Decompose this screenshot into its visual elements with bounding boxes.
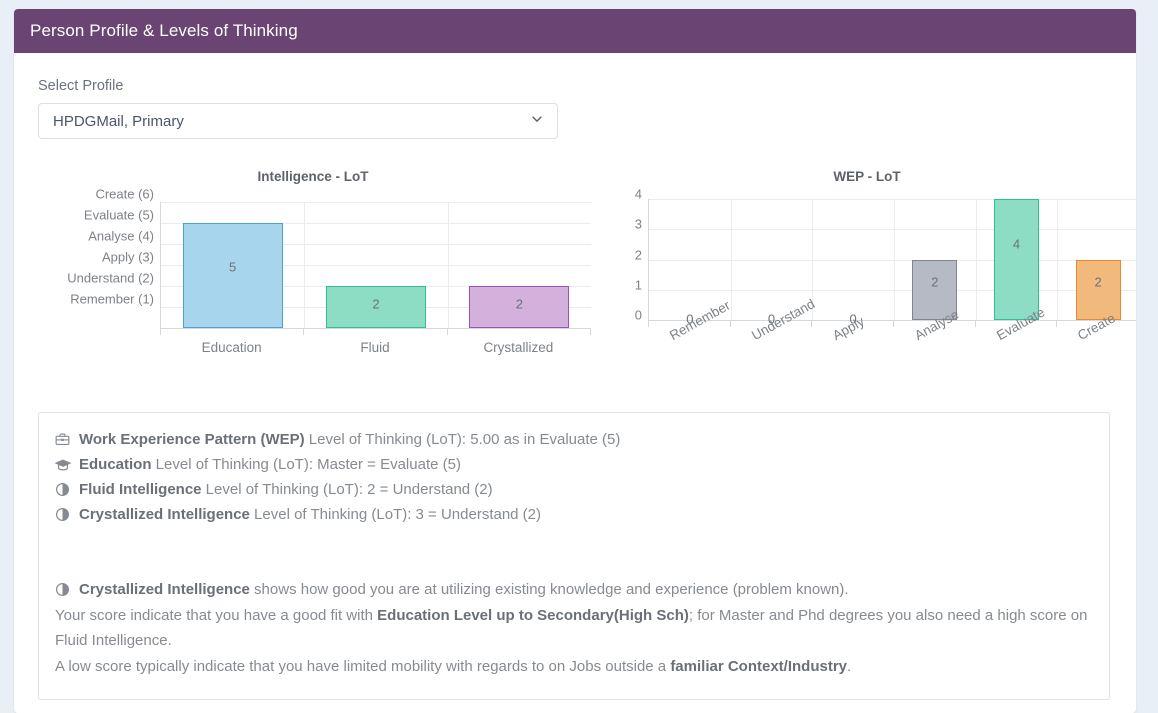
bar-value-label: 4: [1013, 237, 1020, 250]
bar[interactable]: [994, 199, 1039, 320]
summary-row-text: Work Experience Pattern (WEP) Level of T…: [79, 427, 620, 452]
y-tick-label: Create (6): [95, 188, 154, 201]
x-tick-mark: [811, 320, 812, 327]
x-tick-mark: [1056, 320, 1057, 327]
select-profile-label: Select Profile: [38, 78, 1112, 94]
summary-row-bold: Crystallized Intelligence: [79, 506, 250, 523]
y-tick-label: 3: [635, 218, 642, 231]
summary-row-bold: Work Experience Pattern (WEP): [79, 431, 305, 448]
summary-row-bold: Education: [79, 456, 152, 473]
gridline-horizontal: [649, 199, 1136, 200]
chart-wep-lot: WEP - LoT 01234000242RememberUnderstandA…: [603, 169, 1131, 359]
plot-box: 522: [160, 202, 591, 329]
y-tick-label: Remember (1): [70, 293, 154, 306]
y-tick-label: 1: [635, 278, 642, 291]
gridline-vertical: [304, 202, 305, 328]
description-line-3-b: .: [847, 658, 851, 675]
summary-row-text: Crystallized Intelligence Level of Think…: [79, 502, 541, 527]
description-line-1-text: Crystallized Intelligence shows how good…: [79, 577, 849, 603]
summary-row-rest: Level of Thinking (LoT): 2 = Understand …: [202, 481, 493, 498]
bar-value-label: 5: [229, 261, 236, 274]
y-tick-label: 2: [635, 248, 642, 261]
summary-row-rest: Level of Thinking (LoT): 3 = Understand …: [250, 506, 541, 523]
card-body: Select Profile HPDGMail, Primary Intelli…: [14, 53, 1136, 700]
summary-row-rest: Level of Thinking (LoT): Master = Evalua…: [152, 456, 461, 473]
summary-row: Education Level of Thinking (LoT): Maste…: [55, 452, 1093, 477]
description-line-2-a: Your score indicate that you have a good…: [55, 607, 377, 624]
y-tick-label: Analyse (4): [88, 230, 154, 243]
gridline-vertical: [1057, 199, 1058, 320]
profile-select-value: HPDGMail, Primary: [53, 113, 184, 130]
description-line-3-bold: familiar Context/Industry: [670, 658, 847, 675]
summary-row: Fluid Intelligence Level of Thinking (Lo…: [55, 477, 1093, 502]
x-tick-mark: [447, 328, 448, 335]
description-line-1-rest: shows how good you are at utilizing exis…: [250, 581, 849, 598]
plot-area-wep: 01234000242RememberUnderstandApplyAnalys…: [603, 194, 1131, 359]
summary-rows: Work Experience Pattern (WEP) Level of T…: [55, 427, 1093, 527]
graduation-cap-icon: [55, 452, 79, 477]
x-tick-mark: [303, 328, 304, 335]
description-line-1-bold: Crystallized Intelligence: [79, 581, 250, 598]
gridline-horizontal: [649, 229, 1136, 230]
gridline-vertical: [731, 199, 732, 320]
description-line-2-bold: Education Level up to Secondary(High Sch…: [377, 607, 689, 624]
bar-value-label: 2: [931, 275, 938, 288]
y-tick-label: Evaluate (5): [84, 209, 154, 222]
briefcase-icon: [55, 427, 79, 452]
y-tick-label: 4: [635, 188, 642, 201]
page-title: Person Profile & Levels of Thinking: [30, 21, 298, 41]
summary-row: Crystallized Intelligence Level of Think…: [55, 502, 1093, 527]
y-tick-label: 0: [635, 309, 642, 322]
summary-row-text: Education Level of Thinking (LoT): Maste…: [79, 452, 461, 477]
charts-area: Intelligence - LoT Remember (1)Understan…: [38, 169, 1112, 374]
x-tick-label: Crystallized: [483, 340, 553, 355]
profile-card: Person Profile & Levels of Thinking Sele…: [14, 9, 1136, 713]
profile-select[interactable]: HPDGMail, Primary: [38, 103, 558, 139]
gridline-vertical: [894, 199, 895, 320]
bar[interactable]: [1076, 260, 1121, 321]
y-tick-label: Understand (2): [67, 272, 154, 285]
circle-half-icon: [55, 502, 79, 527]
description-line-3: A low score typically indicate that you …: [55, 654, 1093, 680]
gridline-vertical: [976, 199, 977, 320]
circle-half-icon: [55, 577, 79, 602]
x-tick-mark: [648, 320, 649, 327]
gridline-horizontal: [649, 260, 1136, 261]
chart-title-wep: WEP - LoT: [603, 169, 1131, 184]
chart-title-intelligence: Intelligence - LoT: [38, 169, 588, 184]
description-line-3-a: A low score typically indicate that you …: [55, 658, 670, 675]
y-axis-labels: 01234: [603, 194, 642, 315]
description-line-2: Your score indicate that you have a good…: [55, 603, 1093, 654]
x-tick-mark: [590, 328, 591, 335]
card-header: Person Profile & Levels of Thinking: [14, 9, 1136, 53]
bar[interactable]: [183, 223, 283, 328]
x-tick-mark: [160, 328, 161, 335]
gridline-vertical: [448, 202, 449, 328]
circle-half-icon: [55, 477, 79, 502]
gridline-horizontal: [649, 290, 1136, 291]
y-tick-label: Apply (3): [102, 251, 154, 264]
gridline-horizontal: [161, 202, 591, 203]
spacer: [55, 527, 1093, 577]
summary-row: Work Experience Pattern (WEP) Level of T…: [55, 427, 1093, 452]
description-line-1: Crystallized Intelligence shows how good…: [55, 577, 1093, 603]
description-block: Crystallized Intelligence shows how good…: [55, 577, 1093, 679]
summary-panel: Work Experience Pattern (WEP) Level of T…: [38, 412, 1110, 700]
x-tick-label: Fluid: [360, 340, 389, 355]
x-tick-mark: [730, 320, 731, 327]
summary-row-bold: Fluid Intelligence: [79, 481, 202, 498]
bar-value-label: 2: [1095, 275, 1102, 288]
profile-select-wrapper[interactable]: HPDGMail, Primary: [38, 103, 558, 139]
summary-row-text: Fluid Intelligence Level of Thinking (Lo…: [79, 477, 493, 502]
plot-area-intelligence: Remember (1)Understand (2)Apply (3)Analy…: [38, 194, 588, 359]
y-axis-labels: Remember (1)Understand (2)Apply (3)Analy…: [38, 194, 154, 320]
x-tick-mark: [893, 320, 894, 327]
x-tick-label: Education: [202, 340, 262, 355]
x-tick-mark: [975, 320, 976, 327]
bar-value-label: 2: [372, 297, 379, 310]
bar-value-label: 2: [516, 297, 523, 310]
chart-intelligence-lot: Intelligence - LoT Remember (1)Understan…: [38, 169, 588, 359]
summary-row-rest: Level of Thinking (LoT): 5.00 as in Eval…: [305, 431, 621, 448]
